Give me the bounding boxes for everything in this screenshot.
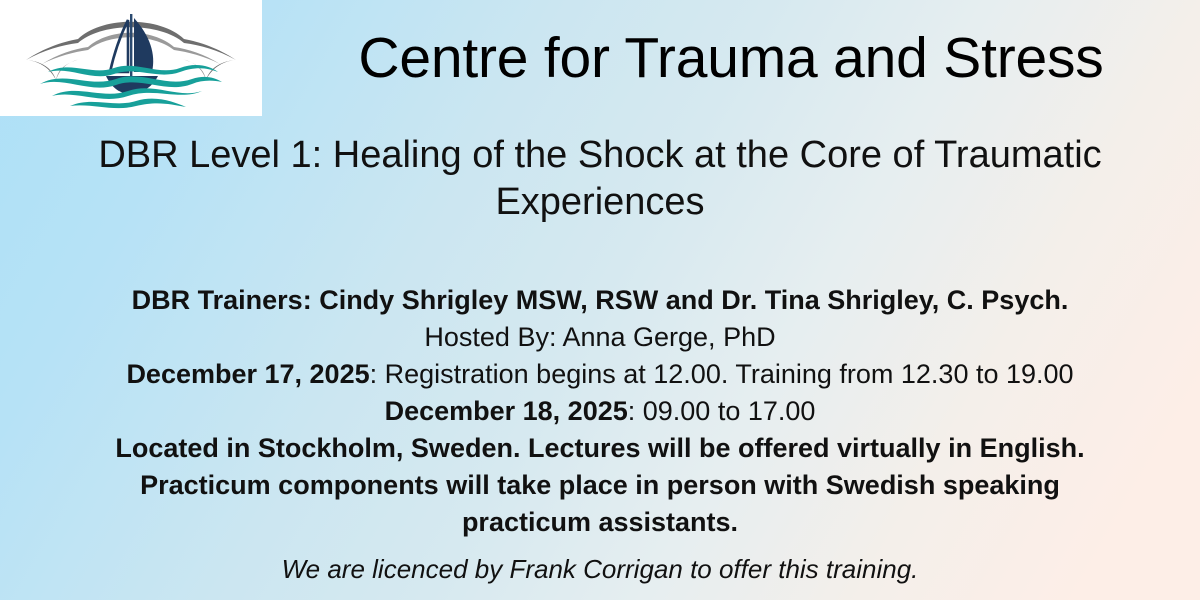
licence-note: We are licenced by Frank Corrigan to off… [16, 552, 1184, 586]
location-line: Located in Stockholm, Sweden. Lectures w… [16, 430, 1184, 467]
practicum-line-1: Practicum components will take place in … [16, 467, 1184, 504]
practicum-line-2: practicum assistants. [16, 504, 1184, 541]
day-two-date: December 18, 2025 [385, 396, 628, 426]
logo-plate [0, 0, 262, 116]
trainers-line: DBR Trainers: Cindy Shrigley MSW, RSW an… [16, 282, 1184, 319]
day-two-detail: : 09.00 to 17.00 [628, 396, 816, 426]
host-line: Hosted By: Anna Gerge, PhD [16, 319, 1184, 356]
event-poster: Centre for Trauma and Stress DBR Level 1… [0, 0, 1200, 600]
event-details: DBR Trainers: Cindy Shrigley MSW, RSW an… [16, 282, 1184, 541]
day-one-line: December 17, 2025: Registration begins a… [16, 356, 1184, 393]
day-one-detail: : Registration begins at 12.00. Training… [370, 359, 1074, 389]
day-two-line: December 18, 2025: 09.00 to 17.00 [16, 393, 1184, 430]
organization-title: Centre for Trauma and Stress [262, 0, 1200, 116]
sailboat-bridge-waves-logo [18, 6, 244, 110]
course-title: DBR Level 1: Healing of the Shock at the… [20, 132, 1180, 226]
poster-header: Centre for Trauma and Stress [0, 0, 1200, 116]
day-one-date: December 17, 2025 [126, 359, 369, 389]
